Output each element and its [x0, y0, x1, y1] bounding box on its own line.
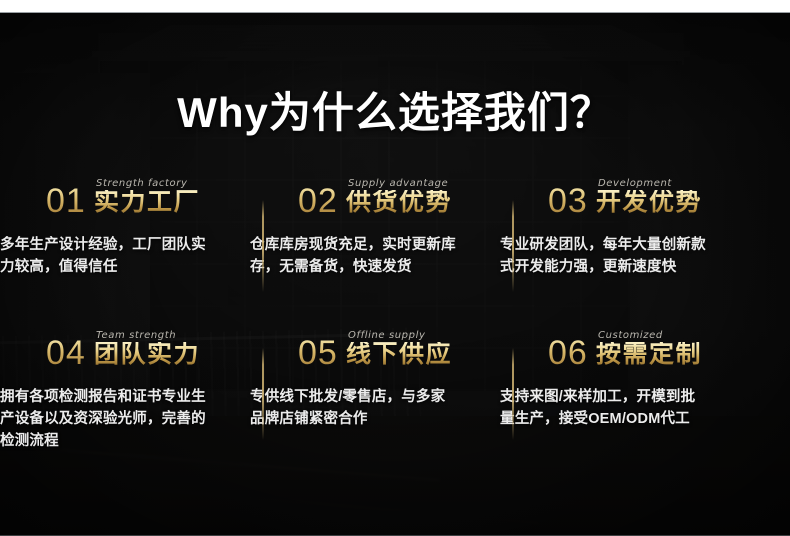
feature-card-04-description: 拥有各项检测报告和证书专业生产设备以及资深验光师，完善的检测流程	[0, 386, 210, 452]
feature-card-06-description: 支持来图/来样加工，开模到批量生产，接受OEM/ODM代工	[500, 386, 710, 430]
feature-card-02[interactable]: 02 Supply advantage 供货优势 仓库库房现货充足，实时更新库存…	[250, 178, 500, 330]
feature-card-03-header: 03 Development 开发优势	[548, 178, 750, 228]
feature-card-01-description: 多年生产设计经验，工厂团队实力较高，值得信任	[0, 234, 210, 278]
top-divider-line	[0, 12, 790, 13]
feature-card-01[interactable]: 01 Strength factory 实力工厂 多年生产设计经验，工厂团队实力…	[0, 178, 250, 330]
feature-card-04-number: 04	[46, 336, 86, 370]
feature-card-04[interactable]: 04 Team strength 团队实力 拥有各项检测报告和证书专业生产设备以…	[0, 330, 250, 482]
feature-card-05-header: 05 Offline supply 线下供应	[298, 330, 500, 380]
column-divider-bottom-right	[512, 348, 514, 440]
feature-card-01-number: 01	[46, 184, 86, 218]
page-title: Why为什么选择我们？	[0, 92, 790, 134]
feature-card-05[interactable]: 05 Offline supply 线下供应 专供线下批发/零售店，与多家品牌店…	[250, 330, 500, 482]
feature-card-05-description: 专供线下批发/零售店，与多家品牌店铺紧密合作	[250, 386, 460, 430]
feature-card-03-number: 03	[548, 184, 588, 218]
feature-card-04-title-cn: 团队实力	[94, 342, 200, 367]
feature-card-03-title-cn: 开发优势	[596, 190, 702, 215]
feature-card-05-title-cn: 线下供应	[346, 342, 452, 367]
promo-banner: Why为什么选择我们？ 01 Strength factory 实力工厂 多年生…	[0, 0, 790, 536]
feature-grid: 01 Strength factory 实力工厂 多年生产设计经验，工厂团队实力…	[0, 178, 790, 482]
column-divider-top-left	[262, 200, 264, 292]
feature-card-03-description: 专业研发团队，每年大量创新款式开发能力强，更新速度快	[500, 234, 710, 278]
column-divider-top-right	[512, 200, 514, 292]
feature-card-03[interactable]: 03 Development 开发优势 专业研发团队，每年大量创新款式开发能力强…	[500, 178, 750, 330]
feature-card-04-header: 04 Team strength 团队实力	[46, 330, 250, 380]
feature-card-06-header: 06 Customized 按需定制	[548, 330, 750, 380]
feature-card-02-header: 02 Supply advantage 供货优势	[298, 178, 500, 228]
feature-card-05-number: 05	[298, 336, 338, 370]
feature-row-top: 01 Strength factory 实力工厂 多年生产设计经验，工厂团队实力…	[0, 178, 790, 330]
feature-row-bottom: 04 Team strength 团队实力 拥有各项检测报告和证书专业生产设备以…	[0, 330, 790, 482]
feature-card-01-header: 01 Strength factory 实力工厂	[46, 178, 250, 228]
content-layer: Why为什么选择我们？ 01 Strength factory 实力工厂 多年生…	[0, 0, 790, 536]
feature-card-01-title-cn: 实力工厂	[94, 190, 200, 215]
feature-card-06-number: 06	[548, 336, 588, 370]
feature-card-02-number: 02	[298, 184, 338, 218]
feature-card-06-title-cn: 按需定制	[596, 342, 702, 367]
feature-card-02-title-cn: 供货优势	[346, 190, 452, 215]
column-divider-bottom-left	[262, 348, 264, 440]
feature-card-06[interactable]: 06 Customized 按需定制 支持来图/来样加工，开模到批量生产，接受O…	[500, 330, 750, 482]
feature-card-02-description: 仓库库房现货充足，实时更新库存，无需备货，快速发货	[250, 234, 460, 278]
